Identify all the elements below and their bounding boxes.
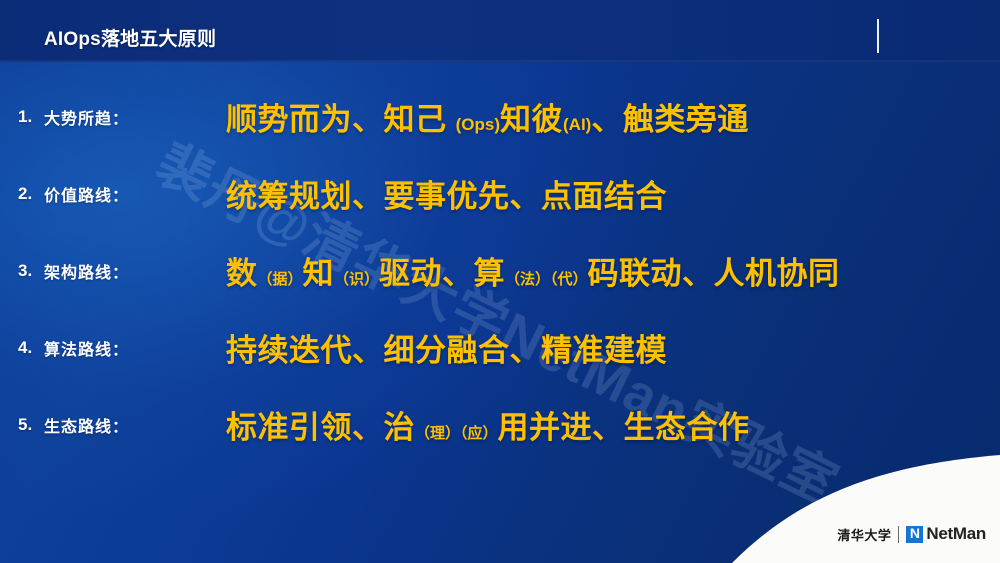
slide-canvas: AIOps落地五大原则 裴丹@清华大学NetMan实验室 1.大势所趋：顺势而为… — [0, 0, 1000, 563]
slide-header-band: AIOps落地五大原则 — [0, 0, 1000, 62]
principle-content-annotation: （据） — [258, 271, 303, 288]
principle-content-text: 知 — [303, 256, 335, 291]
tsinghua-university-logo: 清华大学 — [837, 525, 891, 544]
principle-row: 2.价值路线：统筹规划、要事优先、点面结合 — [0, 155, 1000, 232]
principle-content-text: 标准引领、治 — [226, 410, 415, 445]
principle-content: 统筹规划、要事优先、点面结合 — [226, 171, 1000, 216]
netman-wordmark: NetMan — [926, 524, 986, 544]
principle-content-text: 驱动、算 — [379, 256, 505, 291]
principle-content-text: 顺势而为、知己 — [226, 102, 456, 137]
principle-content-text: 、触类旁通 — [591, 102, 749, 137]
principle-label: 大势所趋： — [44, 105, 226, 129]
principle-label: 价值路线： — [44, 182, 226, 206]
principle-content-annotation: （识） — [334, 271, 379, 288]
netman-logo: NetMan — [906, 524, 986, 544]
principle-list: 1.大势所趋：顺势而为、知己 (Ops)知彼(AI)、触类旁通2.价值路线：统筹… — [0, 78, 1000, 463]
principle-content: 顺势而为、知己 (Ops)知彼(AI)、触类旁通 — [226, 94, 1000, 139]
principle-index: 3. — [0, 261, 44, 281]
principle-row: 4.算法路线：持续迭代、细分融合、精准建模 — [0, 309, 1000, 386]
principle-row: 3.架构路线：数（据）知（识）驱动、算（法）（代）码联动、人机协同 — [0, 232, 1000, 309]
principle-content-text: 持续迭代、细分融合、精准建模 — [226, 333, 667, 368]
principle-content-annotation: (AI) — [563, 115, 591, 134]
principle-content: 持续迭代、细分融合、精准建模 — [226, 325, 1000, 370]
principle-content: 标准引领、治（理）（应）用并进、生态合作 — [226, 402, 1000, 447]
principle-content: 数（据）知（识）驱动、算（法）（代）码联动、人机协同 — [226, 248, 1000, 293]
principle-index: 1. — [0, 107, 44, 127]
principle-content-text: 统筹规划、要事优先、点面结合 — [226, 179, 667, 214]
principle-index: 5. — [0, 415, 44, 435]
principle-content-annotation: （法）（代） — [505, 271, 588, 288]
principle-row: 5.生态路线：标准引领、治（理）（应）用并进、生态合作 — [0, 386, 1000, 463]
logo-divider — [898, 526, 899, 543]
principle-index: 2. — [0, 184, 44, 204]
principle-content-text: 数 — [226, 256, 258, 291]
principle-content-annotation: （理）（应） — [415, 425, 498, 442]
principle-label: 算法路线： — [44, 336, 226, 360]
netman-n-icon — [906, 526, 923, 543]
principle-index: 4. — [0, 338, 44, 358]
principle-row: 1.大势所趋：顺势而为、知己 (Ops)知彼(AI)、触类旁通 — [0, 78, 1000, 155]
page-title: AIOps落地五大原则 — [44, 24, 216, 51]
principle-label: 架构路线： — [44, 259, 226, 283]
header-accent-rule — [877, 19, 879, 53]
principle-content-text: 知彼 — [500, 102, 563, 137]
principle-content-annotation: (Ops) — [456, 115, 500, 134]
principle-content-text: 用并进、生态合作 — [498, 410, 750, 445]
principle-label: 生态路线： — [44, 413, 226, 437]
principle-content-text: 码联动、人机协同 — [588, 256, 840, 291]
footer-swoosh-shape — [0, 453, 1000, 563]
footer-logos: 清华大学 NetMan — [837, 523, 986, 545]
